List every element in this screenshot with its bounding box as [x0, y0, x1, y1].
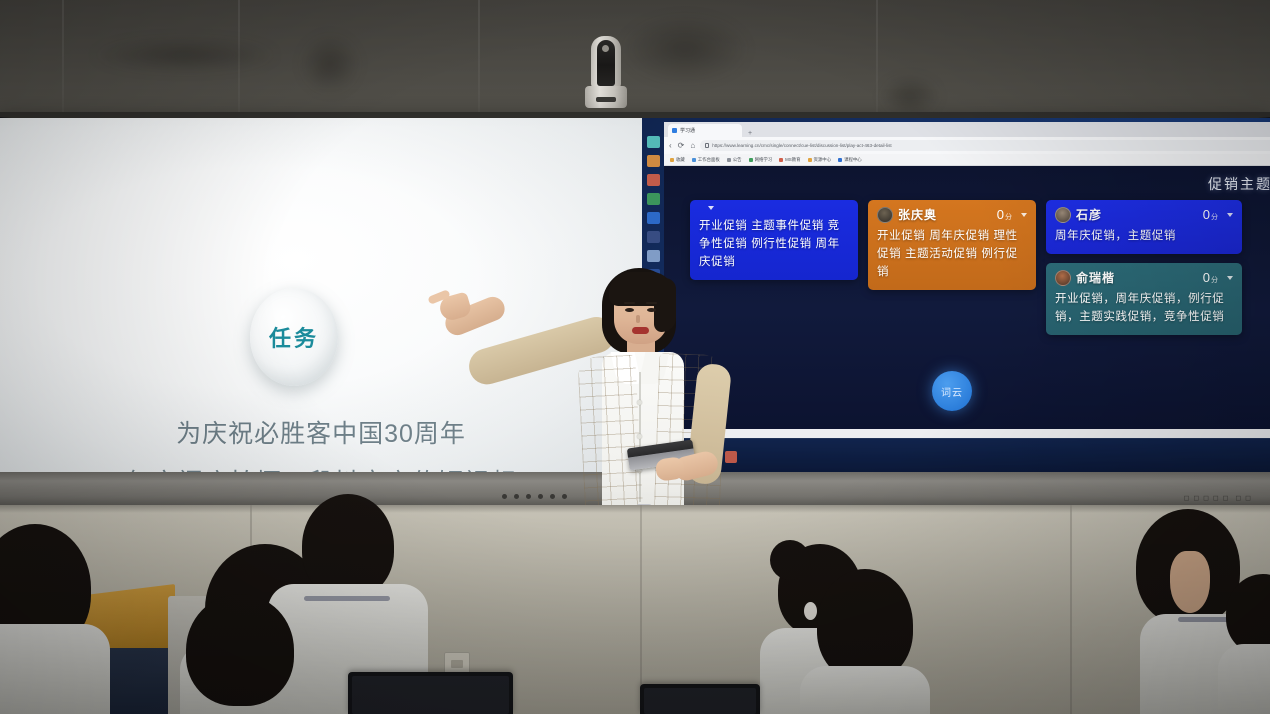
answer-card-score: 0 分: [1203, 207, 1218, 222]
answer-card-name: 张庆奥: [898, 206, 937, 223]
slide-badge-label: 任务: [269, 321, 319, 353]
slide-badge: 任务: [250, 288, 338, 386]
answer-cards-grid: 开业促销 主题事件促销 竞争性促销 例行性促销 周年庆促销 张庆奥: [690, 200, 1270, 395]
desktop-icon-app[interactable]: [647, 231, 660, 243]
answer-card-yu[interactable]: 俞瑞楷 0 分 开业促销，周年庆促销，例行促销，主题实践促销，竞争性促销: [1046, 263, 1242, 335]
chevron-down-icon[interactable]: [708, 206, 714, 210]
avatar: [1055, 207, 1071, 223]
score-unit: 分: [1211, 212, 1218, 222]
answer-card-header: [699, 206, 849, 210]
word-cloud-button[interactable]: 词云: [932, 371, 972, 411]
avatar: [877, 207, 893, 223]
answer-column-middle: 张庆奥 0 分 开业促销 周年庆促销 理性促销 主题活动促销 例行促销: [868, 200, 1036, 395]
answer-card-zhang[interactable]: 张庆奥 0 分 开业促销 周年庆促销 理性促销 主题活动促销 例行促销: [868, 200, 1036, 290]
score-unit: 分: [1211, 275, 1218, 285]
bookmarks-bar[interactable]: 收藏 工作台面板 公告 网络学习 MS教育 资源中心 课程中心: [664, 154, 1270, 166]
answer-card-name: 石彦: [1076, 206, 1102, 223]
answer-card-text: 开业促销 主题事件促销 竞争性促销 例行性促销 周年庆促销: [699, 214, 849, 271]
back-icon[interactable]: ‹: [669, 141, 672, 150]
answer-card-text: 周年庆促销，主题促销: [1055, 227, 1233, 245]
home-icon[interactable]: ⌂: [690, 141, 695, 150]
ptz-camera: [585, 36, 627, 108]
desktop-icon-shortcut[interactable]: [647, 250, 660, 262]
answer-card-header: 俞瑞楷 0 分: [1055, 269, 1233, 286]
teacher-brow-left: [624, 302, 635, 304]
avatar: [1055, 270, 1071, 286]
board-power-button[interactable]: ◻ ◻ ◻ ◻ ◻: [1184, 494, 1230, 502]
bookmark-item[interactable]: 网络学习: [749, 157, 773, 163]
chevron-down-icon[interactable]: [1227, 276, 1233, 280]
desktop-icon-notes[interactable]: [647, 136, 660, 148]
tab-favicon: [672, 128, 677, 133]
student-laptop[interactable]: [348, 672, 513, 714]
teacher-mouth: [632, 327, 649, 334]
answer-card-text: 开业促销，周年庆促销，例行促销，主题实践促销，竞争性促销: [1055, 290, 1233, 326]
browser-tabstrip[interactable]: 学习通 + — □ ✕: [664, 122, 1270, 137]
chevron-down-icon[interactable]: [1021, 213, 1027, 217]
classroom-scene: 任务 为庆祝必胜客中国30周年 每家门店拍摄一段抖音宣传短视频: [0, 0, 1270, 714]
teacher-eye-left: [625, 308, 634, 312]
answer-card-header: 石彦 0 分: [1055, 206, 1233, 223]
answer-card-score: 0 分: [997, 207, 1012, 222]
student-back-row: [0, 524, 110, 714]
chevron-down-icon[interactable]: [1227, 213, 1233, 217]
teacher-nose: [636, 315, 640, 323]
bookmark-item[interactable]: MS教育: [779, 157, 800, 163]
answer-column-right: 石彦 0 分 周年庆促销，主题促销: [1046, 200, 1242, 395]
desktop-icon-excel[interactable]: [647, 193, 660, 205]
answer-card-name: 俞瑞楷: [1076, 269, 1115, 286]
lock-icon: [705, 143, 709, 148]
score-number: 0: [997, 207, 1004, 222]
camera-glint: [602, 45, 609, 52]
quiz-question-title: 促销主题的类型有哪些: [664, 174, 1270, 194]
bookmark-item[interactable]: 课程中心: [838, 157, 862, 163]
bookmark-item[interactable]: 资源中心: [808, 157, 832, 163]
student-back-row: [800, 569, 930, 714]
new-tab-button[interactable]: +: [745, 130, 755, 137]
score-number: 0: [1203, 207, 1210, 222]
student-back-row: [175, 594, 305, 714]
teacher-eye-right: [647, 308, 656, 312]
bookmark-item[interactable]: 收藏: [670, 157, 685, 163]
address-bar[interactable]: https://www.learning.cn/cmc/single/conne…: [700, 140, 1270, 151]
teacher-side-hair: [654, 278, 676, 332]
answer-card-shi[interactable]: 石彦 0 分 周年庆促销，主题促销: [1046, 200, 1242, 254]
bookmark-item[interactable]: 工作台面板: [692, 157, 720, 163]
answer-card-text: 开业促销 周年庆促销 理性促销 主题活动促销 例行促销: [877, 227, 1027, 281]
student-laptop[interactable]: [640, 684, 760, 714]
browser-tab-active[interactable]: 学习通: [668, 124, 742, 137]
score-unit: 分: [1005, 212, 1012, 222]
answer-card-header: 张庆奥 0 分: [877, 206, 1027, 223]
desktop-icon-pdf[interactable]: [647, 174, 660, 186]
board-input-button[interactable]: ◻ ◻: [1235, 494, 1252, 502]
reload-icon[interactable]: ⟳: [678, 141, 685, 150]
wall-shadow-line: [0, 505, 1270, 513]
browser-toolbar[interactable]: ‹ ⟳ ⌂ https://www.learning.cn/cmc/single…: [664, 137, 1270, 154]
student-back-row: [1218, 574, 1270, 714]
camera-slot: [596, 97, 616, 102]
desktop-icon-folder[interactable]: [647, 155, 660, 167]
score-number: 0: [1203, 270, 1210, 285]
tab-title: 学习通: [680, 127, 695, 134]
browser-nav-buttons[interactable]: ‹ ⟳ ⌂: [669, 141, 695, 150]
teacher-brow-right: [646, 302, 657, 304]
board-control-buttons[interactable]: ◻ ◻ ◻ ◻ ◻ ◻ ◻: [1184, 494, 1252, 502]
bookmark-item[interactable]: 公告: [727, 157, 742, 163]
answer-card-score: 0 分: [1203, 270, 1218, 285]
address-bar-url: https://www.learning.cn/cmc/single/conne…: [712, 143, 891, 148]
desktop-icon-word[interactable]: [647, 212, 660, 224]
